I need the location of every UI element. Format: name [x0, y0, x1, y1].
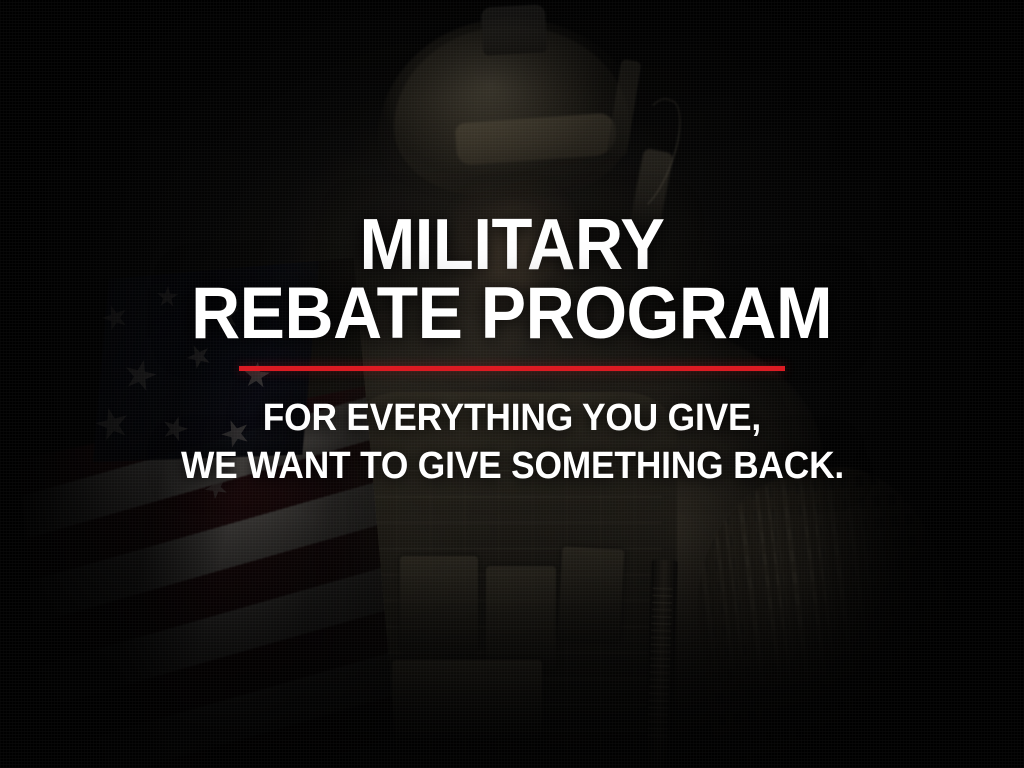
accent-divider-rule [239, 366, 785, 371]
headline-line-2: REBATE PROGRAM [192, 280, 833, 349]
subhead-line-1: FOR EVERYTHING YOU GIVE, [263, 397, 761, 440]
military-rebate-poster: MILITARY REBATE PROGRAM FOR EVERYTHING Y… [0, 0, 1024, 768]
subhead-line-2: WE WANT TO GIVE SOMETHING BACK. [180, 445, 843, 488]
headline-line-1: MILITARY [359, 212, 664, 280]
poster-text-overlay: MILITARY REBATE PROGRAM FOR EVERYTHING Y… [0, 0, 1024, 768]
